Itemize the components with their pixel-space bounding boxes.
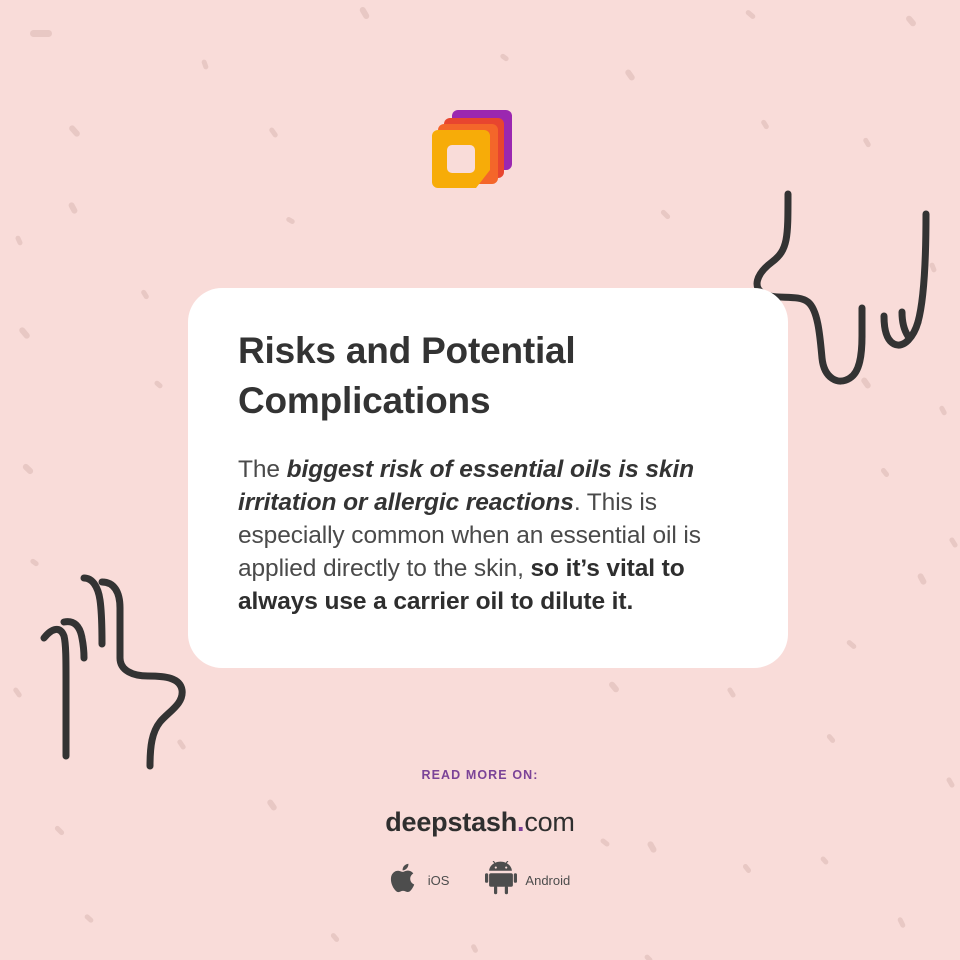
confetti-dash [905,14,917,27]
confetti-dash [30,30,52,37]
confetti-dash [826,733,836,744]
site-name-tld: com [524,807,574,837]
confetti-dash [880,467,890,478]
deepstash-logo-icon [428,104,520,196]
confetti-dash [176,739,186,751]
confetti-dash [201,59,209,70]
confetti-dash [660,209,671,220]
confetti-dash [285,216,295,225]
body-lead: The [238,456,287,483]
confetti-dash [29,558,39,567]
confetti-dash [644,954,654,960]
confetti-dash [499,53,509,62]
confetti-dash [624,68,636,81]
poster-canvas: Risks and Potential Complications The bi… [0,0,960,960]
footer: READ MORE ON: deepstash.com iOS [0,768,960,900]
confetti-dash [268,127,278,139]
confetti-dash [897,916,906,928]
confetti-dash [12,687,22,699]
content-card: Risks and Potential Complications The bi… [188,288,788,668]
android-badge-label: Android [525,873,570,888]
pointing-hand-up-icon [22,560,212,785]
site-name-main: deepstash [385,807,517,837]
confetti-dash [153,380,163,390]
confetti-dash [140,289,150,300]
ios-badge-label: iOS [428,873,450,888]
confetti-dash [745,9,757,20]
confetti-dash [15,235,24,246]
confetti-dash [948,537,958,549]
confetti-dash [760,119,770,130]
confetti-dash [938,405,947,416]
confetti-dash [84,913,95,923]
apple-icon [390,861,420,900]
confetti-dash [860,376,872,389]
confetti-dash [330,932,340,943]
confetti-dash [470,943,479,953]
android-icon [485,861,517,900]
site-wordmark[interactable]: deepstash.com [0,807,960,838]
confetti-dash [22,463,35,476]
ios-store-badge[interactable]: iOS [390,861,450,900]
android-store-badge[interactable]: Android [485,861,570,900]
confetti-dash [726,687,736,699]
confetti-dash [359,6,371,20]
confetti-dash [68,124,81,138]
app-store-badges: iOS [0,861,960,900]
confetti-dash [929,262,937,273]
read-more-label: READ MORE ON: [0,768,960,782]
confetti-dash [917,572,928,585]
confetti-dash [862,137,871,148]
confetti-dash [608,680,620,693]
card-body-text: The biggest risk of essential oils is sk… [238,453,738,618]
card-title: Risks and Potential Complications [238,326,738,426]
confetti-dash [18,326,31,340]
confetti-dash [68,201,79,214]
confetti-dash [846,639,858,650]
